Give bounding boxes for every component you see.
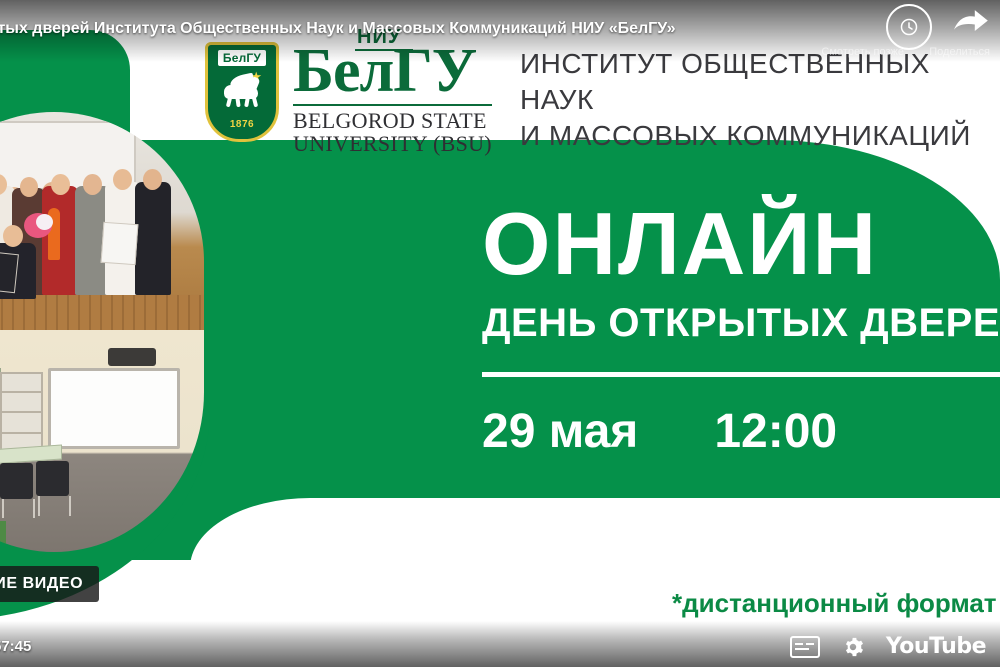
youtube-player[interactable]: БелГУ ★ 1876 НИУ БелГУ BELGOROD STATE UN… — [0, 0, 1000, 667]
classroom-photo — [0, 330, 204, 552]
poster-time: 12:00 — [714, 408, 837, 456]
bsu-wordmark-en-line2: UNIVERSITY (BSU) — [293, 132, 492, 155]
video-title[interactable]: …рытых дверей Института Общественных Нау… — [0, 20, 778, 38]
bsu-logo: БелГУ ★ 1876 НИУ БелГУ BELGOROD STATE UN… — [205, 30, 492, 155]
shield-year: 1876 — [230, 119, 254, 130]
poster-divider — [482, 372, 1000, 377]
youtube-logo[interactable]: YouTube — [886, 634, 986, 659]
watch-later-tooltip: Смотреть позже — [821, 46, 904, 58]
share-icon — [952, 6, 990, 44]
photo-petal — [0, 112, 204, 552]
current-time: :57:45 — [0, 638, 31, 655]
player-bottom-bar[interactable]: :57:45 YouTube — [0, 621, 1000, 667]
video-poster-frame: БелГУ ★ 1876 НИУ БелГУ BELGOROD STATE UN… — [0, 0, 1000, 667]
institute-name: ИНСТИТУТ ОБЩЕСТВЕННЫХ НАУК И МАССОВЫХ КО… — [520, 46, 1000, 153]
bsu-wordmark-en-line1: BELGOROD STATE — [293, 109, 492, 132]
player-bottom-actions[interactable]: YouTube — [790, 634, 986, 659]
poster-subhead: ДЕНЬ ОТКРЫТЫХ ДВЕРЕЙ — [482, 303, 1000, 343]
watch-later-button[interactable] — [886, 4, 932, 50]
pegasus-icon: ★ — [219, 73, 265, 107]
poster-datetime: 29 мая 12:00 — [482, 408, 837, 456]
more-videos-button[interactable]: УГИЕ ВИДЕО — [0, 566, 99, 602]
gear-icon[interactable] — [842, 636, 864, 658]
poster-date: 29 мая — [482, 408, 638, 456]
share-tooltip: Поделиться — [929, 46, 990, 58]
poster-footnote: *дистанционный формат — [672, 588, 997, 619]
closed-captions-icon[interactable] — [790, 636, 820, 658]
shield-label: БелГУ — [218, 50, 266, 66]
share-button[interactable] — [950, 4, 992, 46]
graduates-group-photo — [0, 112, 204, 330]
poster-headline: ОНЛАЙН — [482, 200, 878, 288]
player-top-actions[interactable] — [886, 4, 992, 50]
clock-icon — [899, 17, 919, 37]
bsu-wordmark: НИУ БелГУ BELGOROD STATE UNIVERSITY (BSU… — [293, 30, 492, 155]
bsu-shield-emblem: БелГУ ★ 1876 — [205, 42, 279, 142]
